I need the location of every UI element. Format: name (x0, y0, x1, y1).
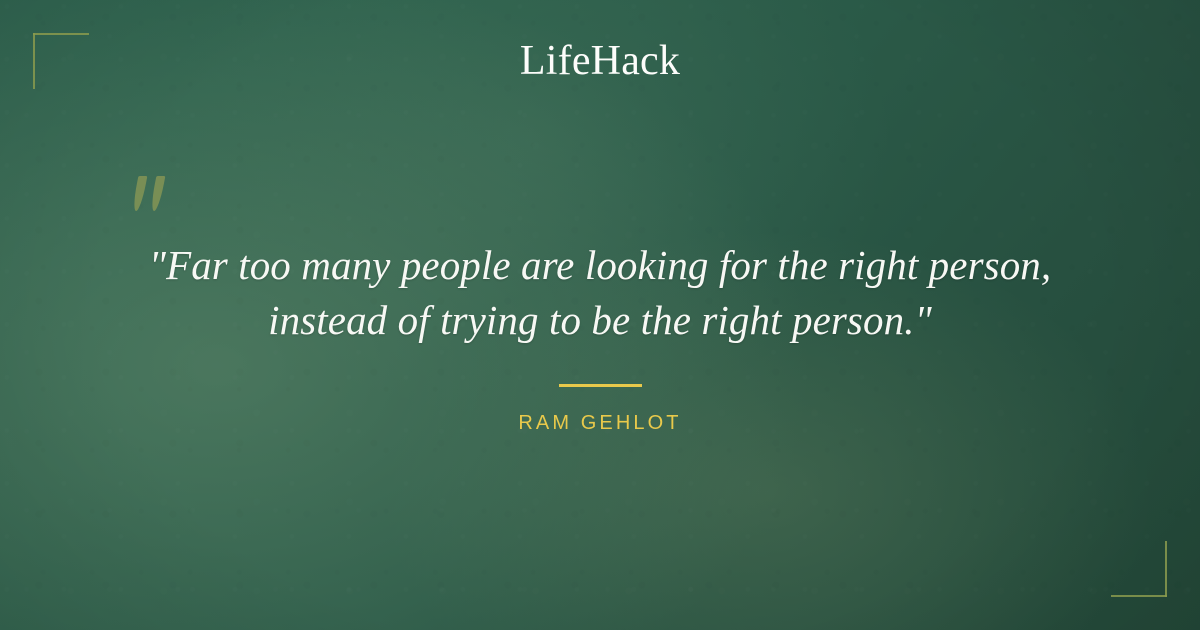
double-quote-icon (132, 172, 182, 218)
brand-logo[interactable]: LifeHack (0, 40, 1200, 82)
quote-line-1: "Far too many people are looking for the… (100, 238, 1100, 293)
corner-bracket-bottom-right-icon (1111, 541, 1167, 597)
double-quote-stroke-right (150, 176, 166, 211)
quote-divider (559, 384, 642, 387)
corner-bracket-top-left-horizontal (33, 33, 89, 35)
quote-author: RAM GEHLOT (0, 412, 1200, 435)
quote-line-2: instead of trying to be the right person… (100, 293, 1100, 348)
quote-text: "Far too many people are looking for the… (100, 238, 1100, 348)
double-quote-stroke-left (132, 176, 148, 211)
quote-card: LifeHack "Far too many people are lookin… (0, 0, 1200, 630)
corner-bracket-bottom-right-horizontal (1111, 595, 1167, 597)
corner-bracket-bottom-right-vertical (1165, 541, 1167, 597)
